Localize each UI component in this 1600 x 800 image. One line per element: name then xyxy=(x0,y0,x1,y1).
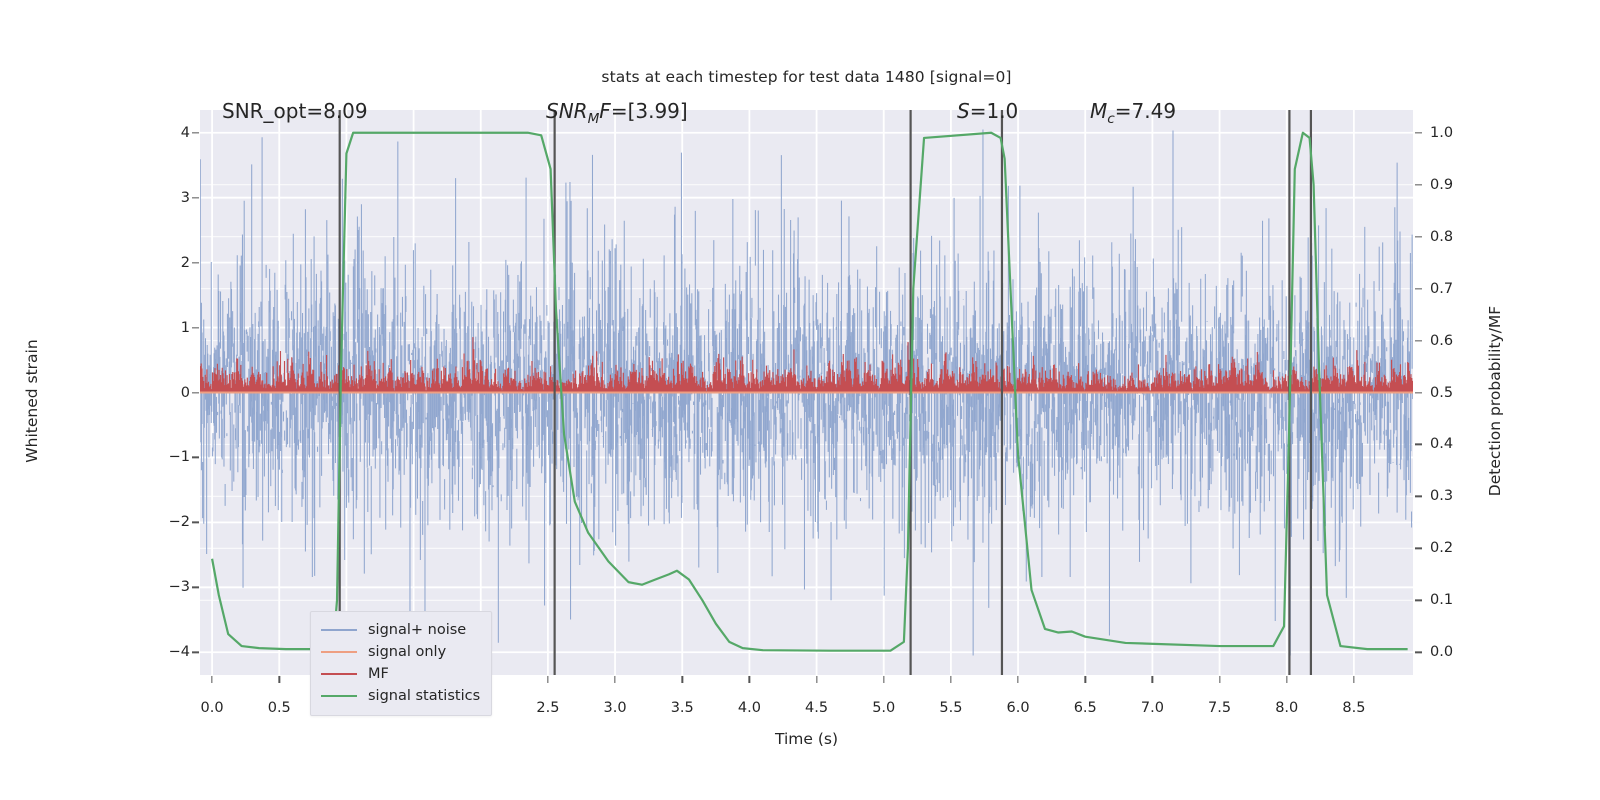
annotation-s-symbol: S xyxy=(957,99,970,123)
y-axis-right-tick-label: 0.7 xyxy=(1430,281,1453,297)
x-axis-tick-mark xyxy=(1219,676,1220,683)
y-axis-right-tick-label: 0.9 xyxy=(1430,177,1453,193)
x-axis-tick-label: 0.0 xyxy=(201,700,224,716)
x-axis-tick-mark xyxy=(1152,676,1153,683)
legend-label-signal-statistics: signal statistics xyxy=(368,688,480,704)
y-axis-right-tick-label: 0.6 xyxy=(1430,333,1453,349)
legend[interactable]: signal+ noise signal only MF signal stat… xyxy=(310,611,492,716)
y-axis-right-tick-label: 0.4 xyxy=(1430,436,1453,452)
y-axis-right-tick-mark xyxy=(1415,600,1422,601)
y-axis-left-tick-mark xyxy=(192,197,199,198)
y-axis-right-tick-mark xyxy=(1415,496,1422,497)
y-axis-left-tick-label: −4 xyxy=(169,644,190,660)
annotation-snr-mf-suffix: ] xyxy=(680,99,688,123)
legend-label-signal-plus-noise: signal+ noise xyxy=(368,622,466,638)
y-axis-right-tick-label: 0.8 xyxy=(1430,229,1453,245)
y-axis-right-tick-mark xyxy=(1415,392,1422,393)
x-axis-label: Time (s) xyxy=(200,730,1413,748)
x-axis-tick-label: 4.0 xyxy=(738,700,761,716)
y-axis-right-tick-label: 0.5 xyxy=(1430,385,1453,401)
x-axis-tick-label: 6.0 xyxy=(1007,700,1030,716)
y-axis-right-label: Detection probability/MF xyxy=(1486,251,1504,551)
x-axis-tick-label: 5.5 xyxy=(939,700,962,716)
x-axis-tick-mark xyxy=(279,676,280,683)
legend-swatch-signal-plus-noise xyxy=(321,629,357,631)
legend-item[interactable]: signal+ noise xyxy=(321,619,481,641)
y-axis-right-tick-label: 0.1 xyxy=(1430,592,1453,608)
y-axis-right-tick-mark xyxy=(1415,288,1422,289)
y-axis-left-tick-label: 4 xyxy=(181,125,190,141)
annotation-snr-mf-sub: M xyxy=(588,111,600,127)
x-axis-tick-mark xyxy=(1286,676,1287,683)
legend-label-signal-only: signal only xyxy=(368,644,446,660)
x-axis-tick-mark xyxy=(614,676,615,683)
legend-item[interactable]: signal statistics xyxy=(321,685,481,707)
y-axis-left-tick-label: −1 xyxy=(169,449,190,465)
x-axis-tick-mark xyxy=(749,676,750,683)
annotation-snr-mf-prefix: SNR xyxy=(546,99,588,123)
y-axis-left-tick-label: 0 xyxy=(181,385,190,401)
legend-swatch-signal-statistics xyxy=(321,695,357,697)
x-axis-tick-label: 8.0 xyxy=(1275,700,1298,716)
x-axis-tick-mark xyxy=(1017,676,1018,683)
annotation-s-value: 1.0 xyxy=(986,99,1018,123)
y-axis-left-tick-mark xyxy=(192,522,199,523)
y-axis-left-tick-label: 2 xyxy=(181,255,190,271)
annotation-mc: Mc=7.49 xyxy=(1090,99,1176,127)
y-axis-left-tick-mark xyxy=(192,587,199,588)
x-axis-tick-mark xyxy=(1353,676,1354,683)
y-axis-right-tick-mark xyxy=(1415,548,1422,549)
y-axis-left-tick-label: 1 xyxy=(181,320,190,336)
x-axis-tick-label: 3.5 xyxy=(671,700,694,716)
y-axis-right-tick-mark xyxy=(1415,236,1422,237)
y-axis-right-tick-mark xyxy=(1415,340,1422,341)
x-axis-tick-mark xyxy=(950,676,951,683)
annotation-snr-mf-value: 3.99 xyxy=(635,99,680,123)
x-axis-tick-label: 0.5 xyxy=(268,700,291,716)
y-axis-right-tick-mark xyxy=(1415,132,1422,133)
legend-label-mf: MF xyxy=(368,666,389,682)
annotation-s-eq: = xyxy=(970,99,987,123)
legend-swatch-mf xyxy=(321,673,357,675)
legend-item[interactable]: MF xyxy=(321,663,481,685)
annotation-snr-opt: SNR_opt=8.09 xyxy=(222,99,368,123)
y-axis-right-tick-mark xyxy=(1415,652,1422,653)
x-axis-tick-label: 7.0 xyxy=(1141,700,1164,716)
annotation-mc-value: 7.49 xyxy=(1132,99,1177,123)
annotation-s: S=1.0 xyxy=(957,99,1018,123)
figure: stats at each timestep for test data 148… xyxy=(0,0,1600,800)
y-axis-left-tick-mark xyxy=(192,132,199,133)
y-axis-right-tick-label: 0.2 xyxy=(1430,540,1453,556)
annotation-mc-eq: = xyxy=(1115,99,1132,123)
y-axis-right-tick-mark xyxy=(1415,444,1422,445)
y-axis-left-label: Whitened strain xyxy=(23,251,41,551)
y-axis-right-tick-mark xyxy=(1415,184,1422,185)
y-axis-left-tick-mark xyxy=(192,457,199,458)
y-axis-right-tick-label: 0.0 xyxy=(1430,644,1453,660)
y-axis-left-tick-label: −3 xyxy=(169,579,190,595)
annotation-snr-mf-eq: =[ xyxy=(611,99,636,123)
y-axis-left-tick-mark xyxy=(192,392,199,393)
annotation-snr-mf: SNRMF=[3.99] xyxy=(546,99,688,127)
chart-title: stats at each timestep for test data 148… xyxy=(200,68,1413,86)
annotation-mc-sub: c xyxy=(1107,111,1114,127)
x-axis-tick-label: 6.5 xyxy=(1074,700,1097,716)
y-axis-left-tick-mark xyxy=(192,262,199,263)
annotation-snr-mf-mid: F xyxy=(599,99,611,123)
annotation-snr-opt-label: SNR_opt= xyxy=(222,99,323,123)
x-axis-tick-mark xyxy=(883,676,884,683)
x-axis-tick-mark xyxy=(816,676,817,683)
x-axis-tick-label: 7.5 xyxy=(1208,700,1231,716)
y-axis-right-tick-label: 1.0 xyxy=(1430,125,1453,141)
y-axis-left-tick-label: −2 xyxy=(169,514,190,530)
y-axis-right-tick-label: 0.3 xyxy=(1430,488,1453,504)
x-axis-tick-mark xyxy=(547,676,548,683)
plot-canvas xyxy=(200,110,1413,675)
y-axis-left-tick-mark xyxy=(192,652,199,653)
x-axis-tick-label: 3.0 xyxy=(604,700,627,716)
annotation-mc-symbol: M xyxy=(1090,99,1107,123)
x-axis-tick-label: 5.0 xyxy=(872,700,895,716)
y-axis-left-tick-label: 3 xyxy=(181,190,190,206)
legend-item[interactable]: signal only xyxy=(321,641,481,663)
x-axis-tick-label: 8.5 xyxy=(1342,700,1365,716)
legend-swatch-signal-only xyxy=(321,651,357,653)
x-axis-tick-label: 2.5 xyxy=(536,700,559,716)
x-axis-tick-mark xyxy=(1085,676,1086,683)
y-axis-left-tick-mark xyxy=(192,327,199,328)
x-axis-tick-mark xyxy=(682,676,683,683)
annotation-snr-opt-value: 8.09 xyxy=(323,99,368,123)
x-axis-tick-label: 4.5 xyxy=(805,700,828,716)
plot-area xyxy=(200,110,1413,675)
x-axis-tick-mark xyxy=(211,676,212,683)
